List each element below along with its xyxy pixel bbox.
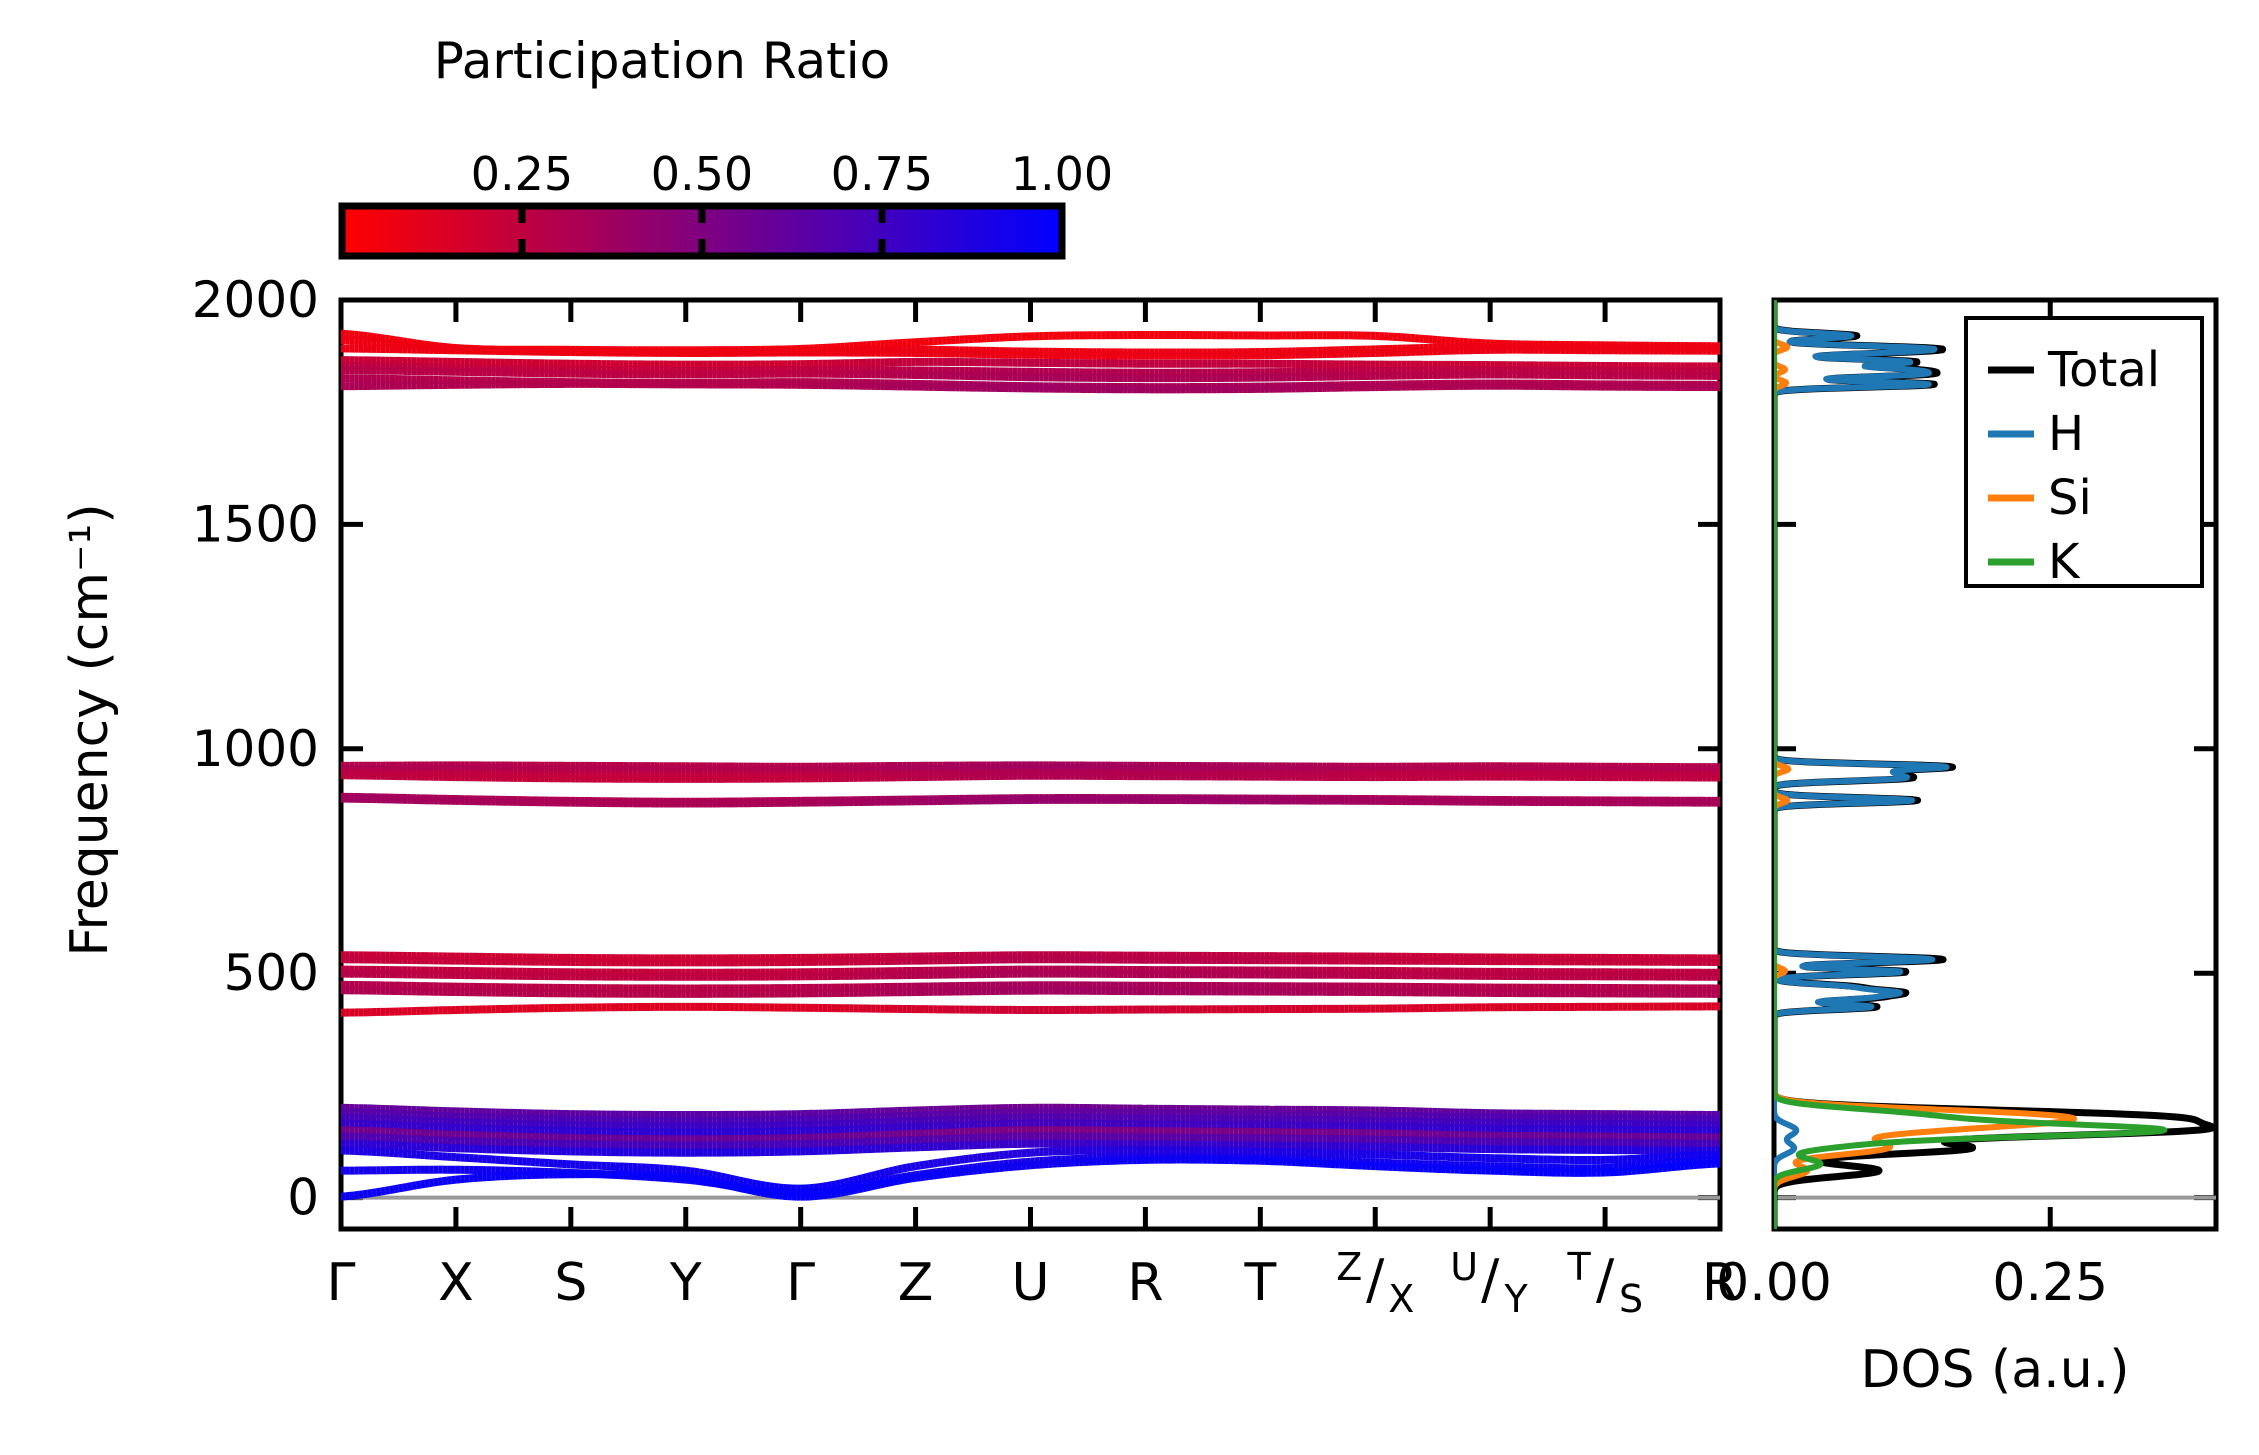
- colorbar-tick-label: 0.25: [471, 147, 573, 201]
- x-tick-label: X: [438, 1253, 474, 1313]
- x-tick-label-slash: /: [1481, 1248, 1500, 1311]
- x-tick-label-slash: /: [1596, 1248, 1615, 1311]
- colorbar-tick-label: 0.50: [651, 147, 753, 201]
- x-tick-label: T: [1243, 1253, 1276, 1313]
- band-line-segment: [359, 335, 363, 336]
- band-line-segment: [381, 338, 385, 339]
- x-tick-label-numerator: U: [1450, 1245, 1478, 1289]
- x-tick-label: U: [1011, 1253, 1049, 1313]
- x-tick-label-numerator: T: [1566, 1245, 1591, 1289]
- x-tick-label: Z: [898, 1253, 934, 1313]
- colorbar-tick-label: 0.75: [831, 147, 933, 201]
- band-line-segment: [376, 337, 380, 338]
- x-tick-label-slash: /: [1366, 1248, 1385, 1311]
- x-tick-label: Γ: [327, 1253, 356, 1313]
- x-tick-label: R: [1127, 1253, 1163, 1313]
- x-tick-label: Y: [669, 1253, 702, 1313]
- band-line-segment: [372, 337, 376, 338]
- x-tick-label: S: [554, 1253, 587, 1313]
- band-line-segment: [368, 336, 372, 337]
- y-tick-label: 0: [287, 1169, 319, 1227]
- x-tick-label-denominator: Y: [1504, 1277, 1529, 1321]
- y-tick-label: 1000: [192, 720, 319, 778]
- x-tick-label-denominator: S: [1619, 1277, 1643, 1321]
- y-tick-label: 500: [224, 944, 319, 1002]
- phonon-figure: 0.250.500.751.00Participation Ratio05001…: [0, 0, 2259, 1455]
- colorbar-title-text: Participation Ratio: [434, 32, 890, 90]
- colorbar-tick-label: 1.00: [1011, 147, 1113, 201]
- y-tick-label: 2000: [192, 271, 319, 329]
- band-line-segment: [363, 336, 367, 337]
- y-tick-label: 1500: [192, 495, 319, 553]
- x-tick-label-numerator: Z: [1336, 1245, 1362, 1289]
- x-tick-label: Γ: [786, 1253, 815, 1313]
- x-tick-label-denominator: X: [1388, 1277, 1414, 1321]
